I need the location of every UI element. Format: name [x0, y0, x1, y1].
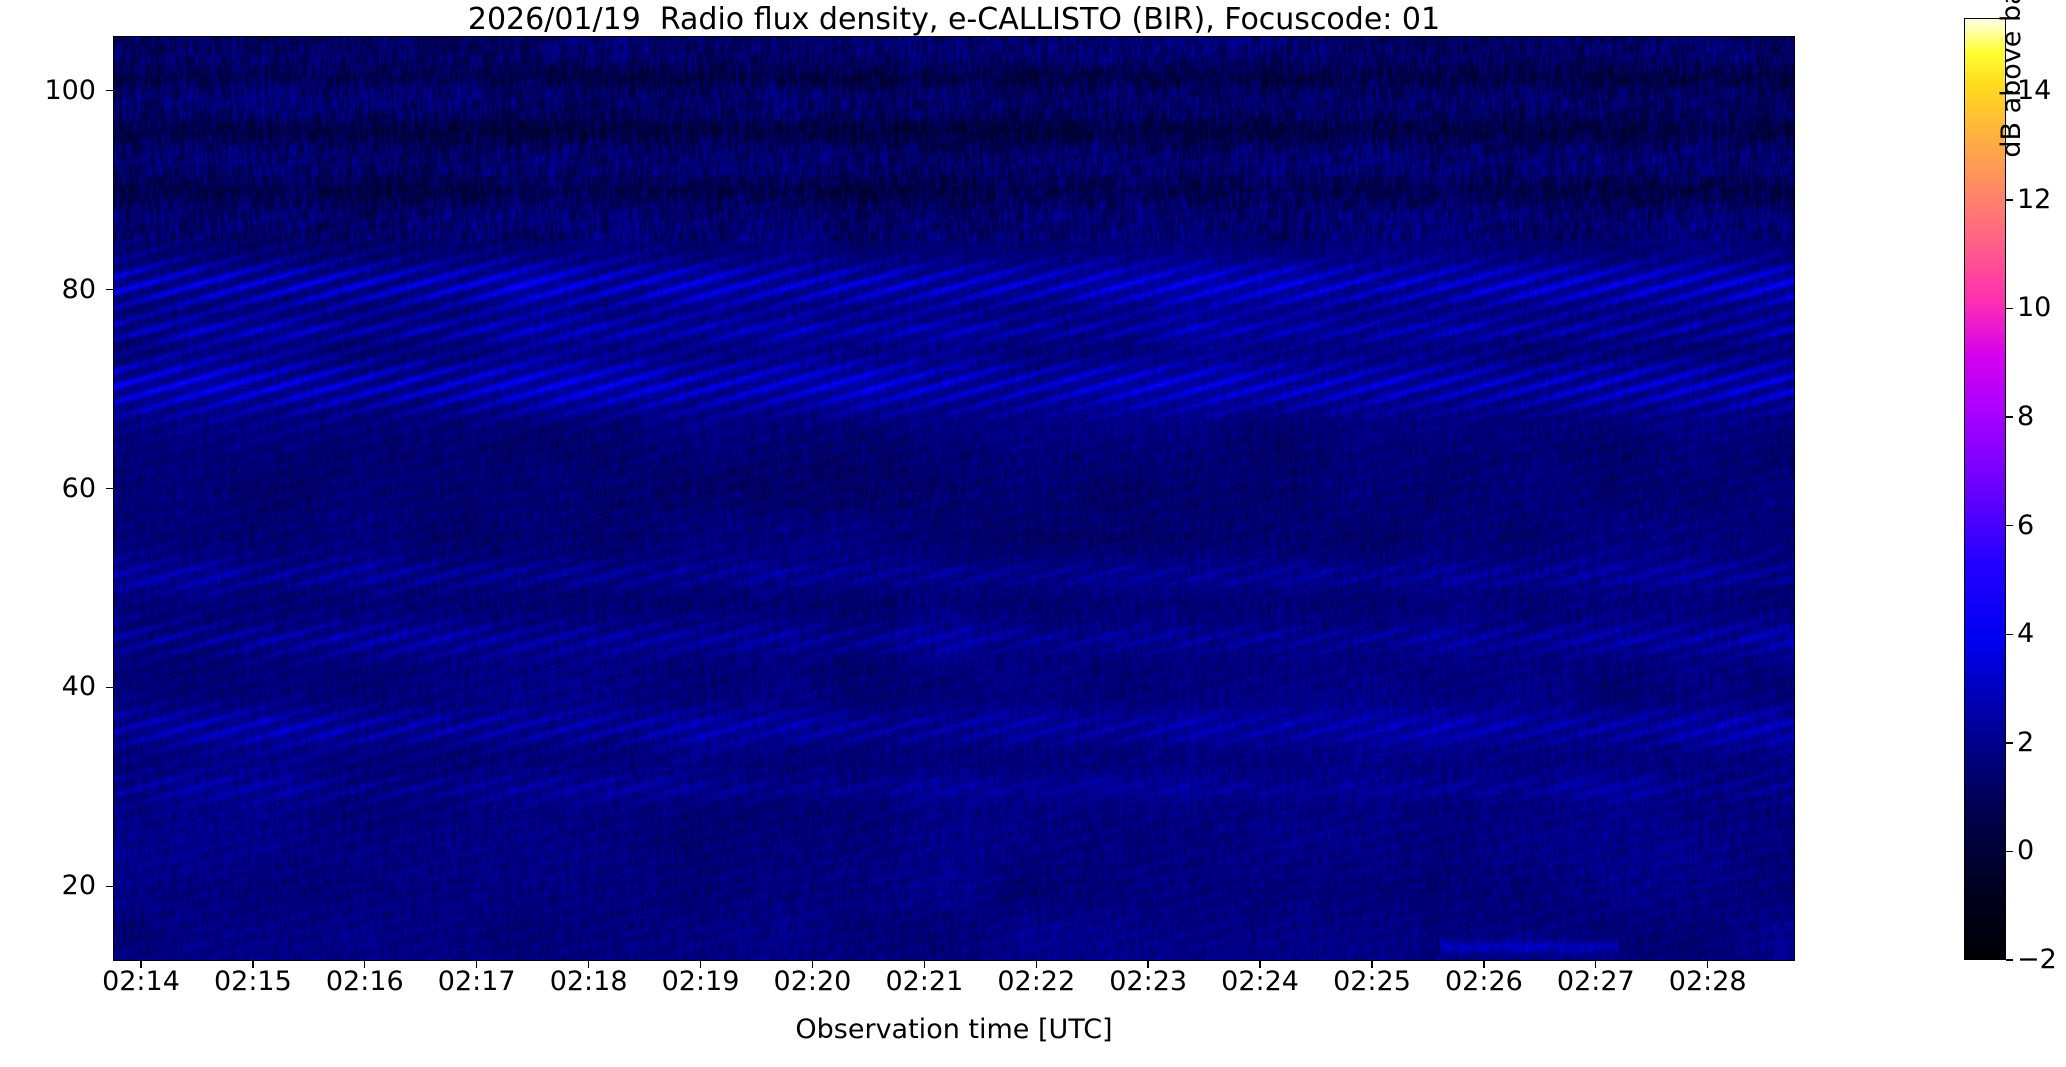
colorbar-tick-label: 0	[2017, 837, 2034, 864]
y-tick-label: 80	[26, 276, 96, 303]
colorbar-tick-label: 6	[2017, 512, 2034, 539]
colorbar-tick-mark	[2006, 851, 2013, 852]
x-axis-label: Observation time [UTC]	[113, 1014, 1795, 1045]
y-tick-mark	[106, 289, 113, 290]
spectrogram-figure: 2026/01/19 Radio flux density, e-CALLIST…	[0, 0, 2066, 1067]
y-tick-label: 100	[26, 77, 96, 104]
spectrogram-axes	[113, 36, 1795, 961]
y-tick-mark	[106, 687, 113, 688]
colorbar-tick-label: −2	[2017, 946, 2057, 973]
colorbar-label: dB above background	[1996, 0, 2027, 490]
spectrogram-image	[114, 37, 1795, 961]
x-tick-label: 02:28	[1638, 968, 1778, 996]
y-tick-mark	[106, 886, 113, 887]
y-tick-label: 60	[26, 475, 96, 502]
y-tick-mark	[106, 488, 113, 489]
colorbar-tick-mark	[2006, 525, 2013, 526]
y-tick-label: 40	[26, 673, 96, 700]
y-tick-label: 20	[26, 872, 96, 899]
colorbar-tick-mark	[2006, 634, 2013, 635]
colorbar-tick-mark	[2006, 742, 2013, 743]
y-tick-mark	[106, 90, 113, 91]
colorbar-tick-mark	[2006, 959, 2013, 960]
colorbar-tick-label: 2	[2017, 729, 2034, 756]
colorbar-tick-label: 4	[2017, 620, 2034, 647]
figure-title: 2026/01/19 Radio flux density, e-CALLIST…	[113, 3, 1795, 37]
